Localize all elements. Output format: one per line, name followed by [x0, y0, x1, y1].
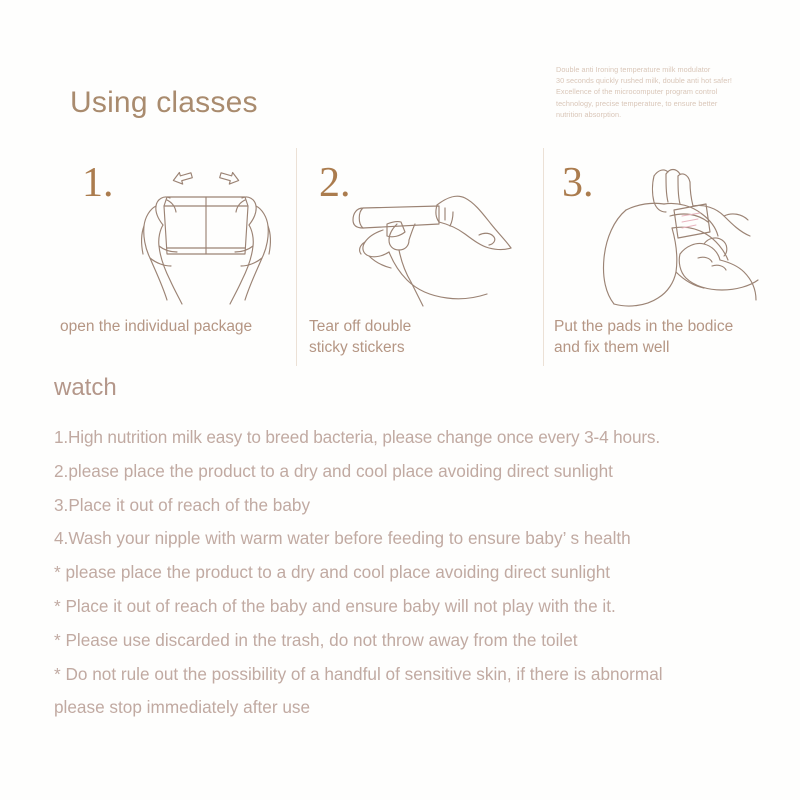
step-3: 3.: [543, 148, 790, 366]
hand-peeling-sticker-icon: [339, 162, 519, 317]
step-caption: Put the pads in the bodice and fix them …: [554, 316, 733, 358]
list-item: 2.please place the product to a dry and …: [54, 455, 800, 489]
note-line: 30 seconds quickly rushed milk, double a…: [556, 75, 792, 86]
list-item: 1.High nutrition milk easy to breed bact…: [54, 421, 800, 455]
list-item: * Place it out of reach of the baby and …: [54, 590, 800, 624]
list-item: * Do not rule out the possibility of a h…: [54, 658, 800, 692]
watch-notes-list: 1.High nutrition milk easy to breed bact…: [54, 421, 800, 725]
hand-placing-pad-into-bra-icon: [592, 162, 772, 317]
step-caption: Tear off double sticky stickers: [309, 316, 411, 358]
instruction-sheet: Double anti Ironing temperature milk mod…: [0, 0, 800, 800]
page-title: Using classes: [70, 86, 258, 120]
step-number: 3.: [562, 162, 594, 204]
note-line: Double anti Ironing temperature milk mod…: [556, 64, 792, 75]
two-hands-opening-sachet-icon: [126, 162, 286, 317]
step-caption: open the individual package: [60, 316, 252, 337]
watch-section-title: watch: [54, 374, 117, 402]
step-number: 1.: [82, 162, 114, 204]
note-line: technology, precise temperature, to ensu…: [556, 98, 792, 109]
step-2: 2.: [296, 148, 543, 366]
list-item: 4.Wash your nipple with warm water befor…: [54, 522, 800, 556]
steps-row: 1.: [50, 148, 790, 366]
note-line: Excellence of the microcomputer program …: [556, 86, 792, 97]
list-item: please stop immediately after use: [54, 691, 800, 725]
list-item: * Please use discarded in the trash, do …: [54, 624, 800, 658]
step-1: 1.: [50, 148, 296, 366]
note-line: nutrition absorption.: [556, 109, 792, 120]
list-item: * please place the product to a dry and …: [54, 556, 800, 590]
product-description-note: Double anti Ironing temperature milk mod…: [556, 64, 792, 120]
list-item: 3.Place it out of reach of the baby: [54, 489, 800, 523]
